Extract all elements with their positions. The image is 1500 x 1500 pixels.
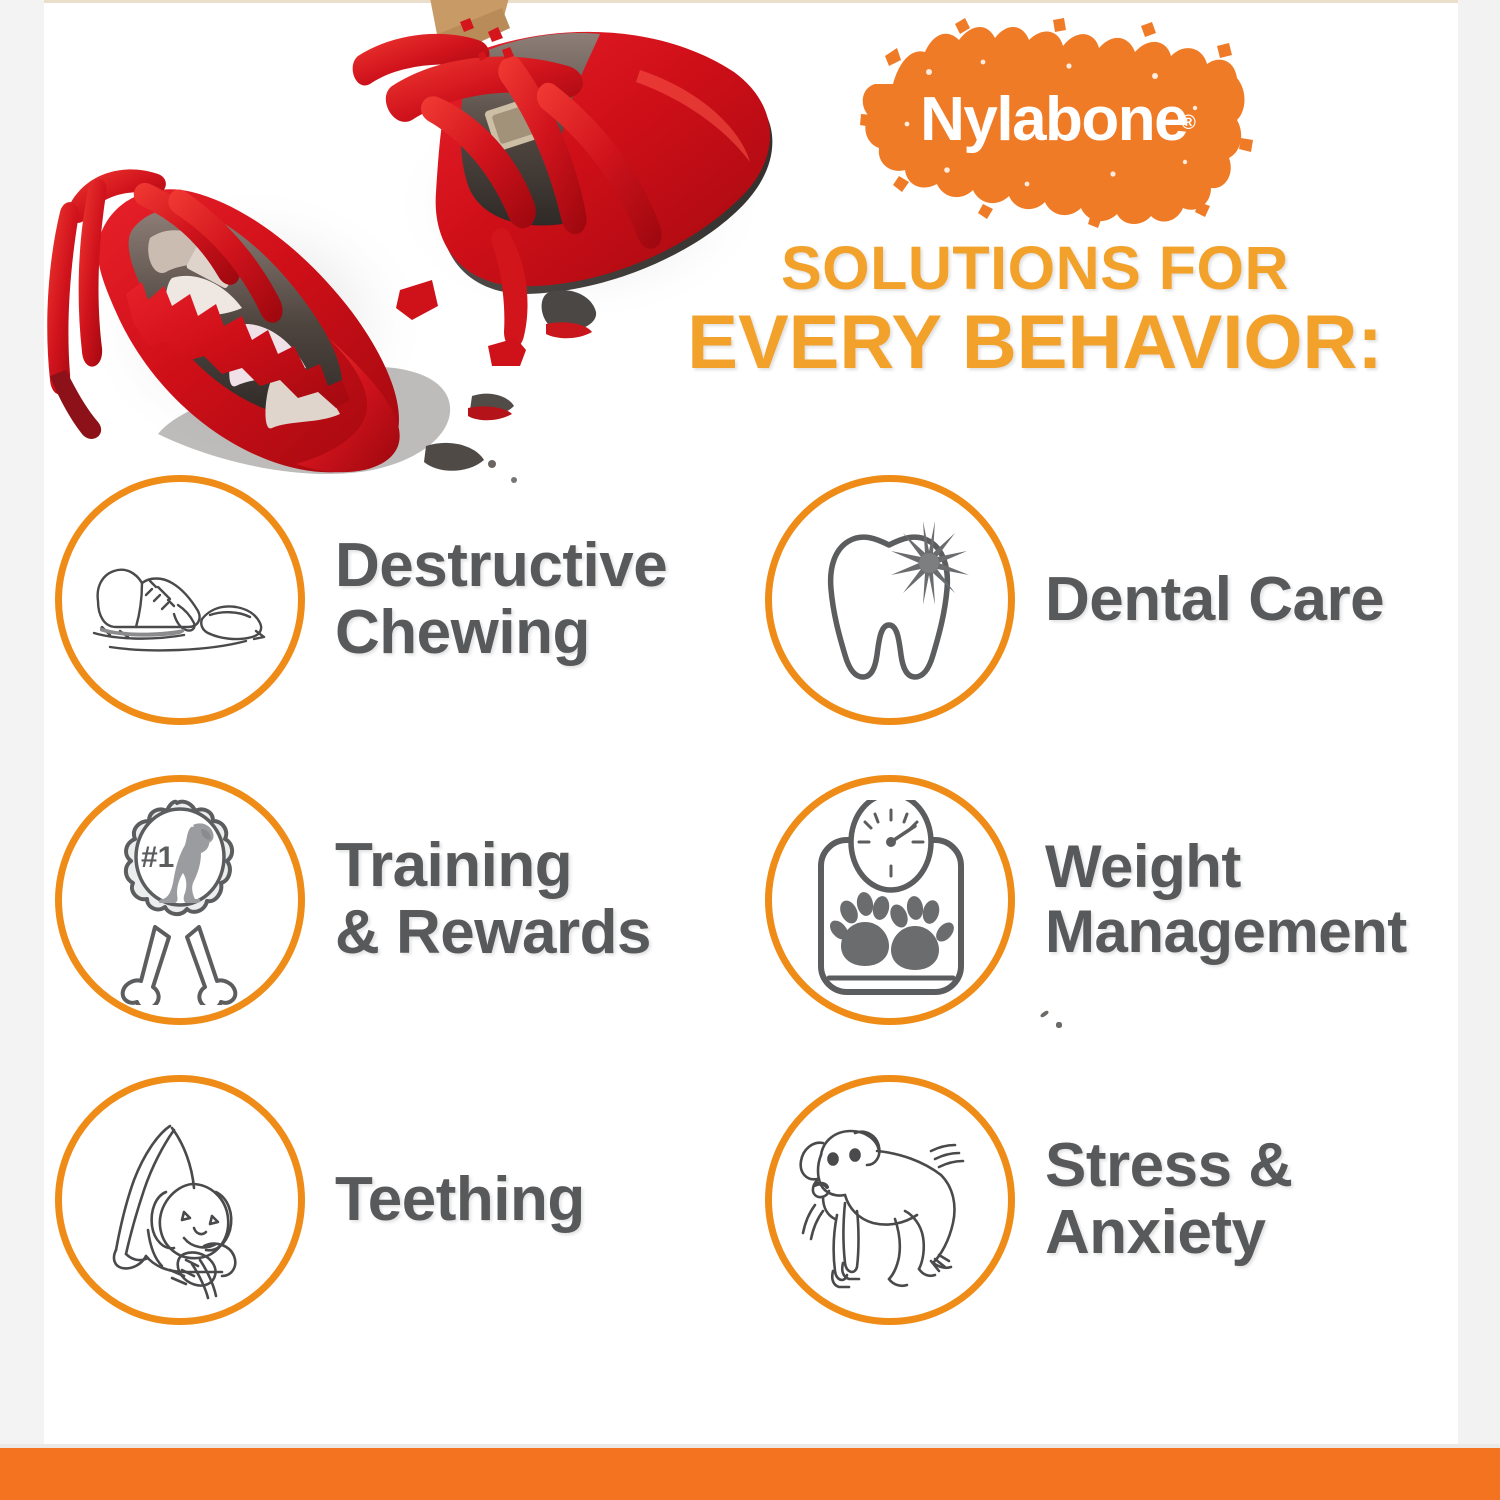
feature-training-rewards[interactable]: #1 Training & Rewards — [55, 775, 651, 1025]
feature-label: Weight Management — [1045, 835, 1407, 965]
footer-accent-bar — [0, 1448, 1500, 1500]
feature-icon-circle — [55, 1075, 305, 1325]
nylabone-logo[interactable]: Nylabone® — [855, 18, 1255, 228]
right-edge-strip — [1458, 0, 1500, 1448]
feature-label: Training & Rewards — [335, 833, 651, 967]
infographic-page: Nylabone® SOLUTIONS FOR EVERY BEHAVIOR: — [0, 0, 1500, 1500]
rank-text: #1 — [141, 841, 174, 874]
feature-label: Teething — [335, 1167, 585, 1234]
feature-icon-circle — [765, 775, 1015, 1025]
feature-label: Stress & Anxiety — [1045, 1133, 1293, 1267]
brush-splash-shape — [855, 18, 1255, 228]
feature-weight-management[interactable]: Weight Management — [765, 775, 1407, 1025]
feature-label: Dental Care — [1045, 567, 1384, 634]
feature-icon-circle — [765, 475, 1015, 725]
chewed-shoe-icon — [80, 535, 280, 665]
sparkling-tooth-icon — [805, 505, 975, 695]
feature-icon-circle — [55, 475, 305, 725]
page-title: SOLUTIONS FOR EVERY BEHAVIOR: — [620, 238, 1450, 381]
feature-teething[interactable]: Teething — [55, 1075, 585, 1325]
headline-line-2: EVERY BEHAVIOR: — [620, 305, 1450, 381]
feature-dental-care[interactable]: Dental Care — [765, 475, 1384, 725]
behavior-solutions-grid: Destructive Chewing Dental Care — [55, 475, 1455, 1375]
headline-line-1: SOLUTIONS FOR — [620, 238, 1450, 299]
feature-icon-circle — [765, 1075, 1015, 1325]
feature-icon-circle: #1 — [55, 775, 305, 1025]
puppy-chewing-toy-icon — [88, 1100, 273, 1300]
left-edge-strip — [0, 0, 44, 1448]
paw-scale-icon — [803, 800, 978, 1000]
feature-label: Destructive Chewing — [335, 533, 667, 667]
feature-destructive-chewing[interactable]: Destructive Chewing — [55, 475, 667, 725]
award-rosette-dog-icon: #1 — [95, 795, 265, 1005]
feature-stress-anxiety[interactable]: Stress & Anxiety — [765, 1075, 1293, 1325]
standing-dog-icon — [793, 1103, 988, 1298]
